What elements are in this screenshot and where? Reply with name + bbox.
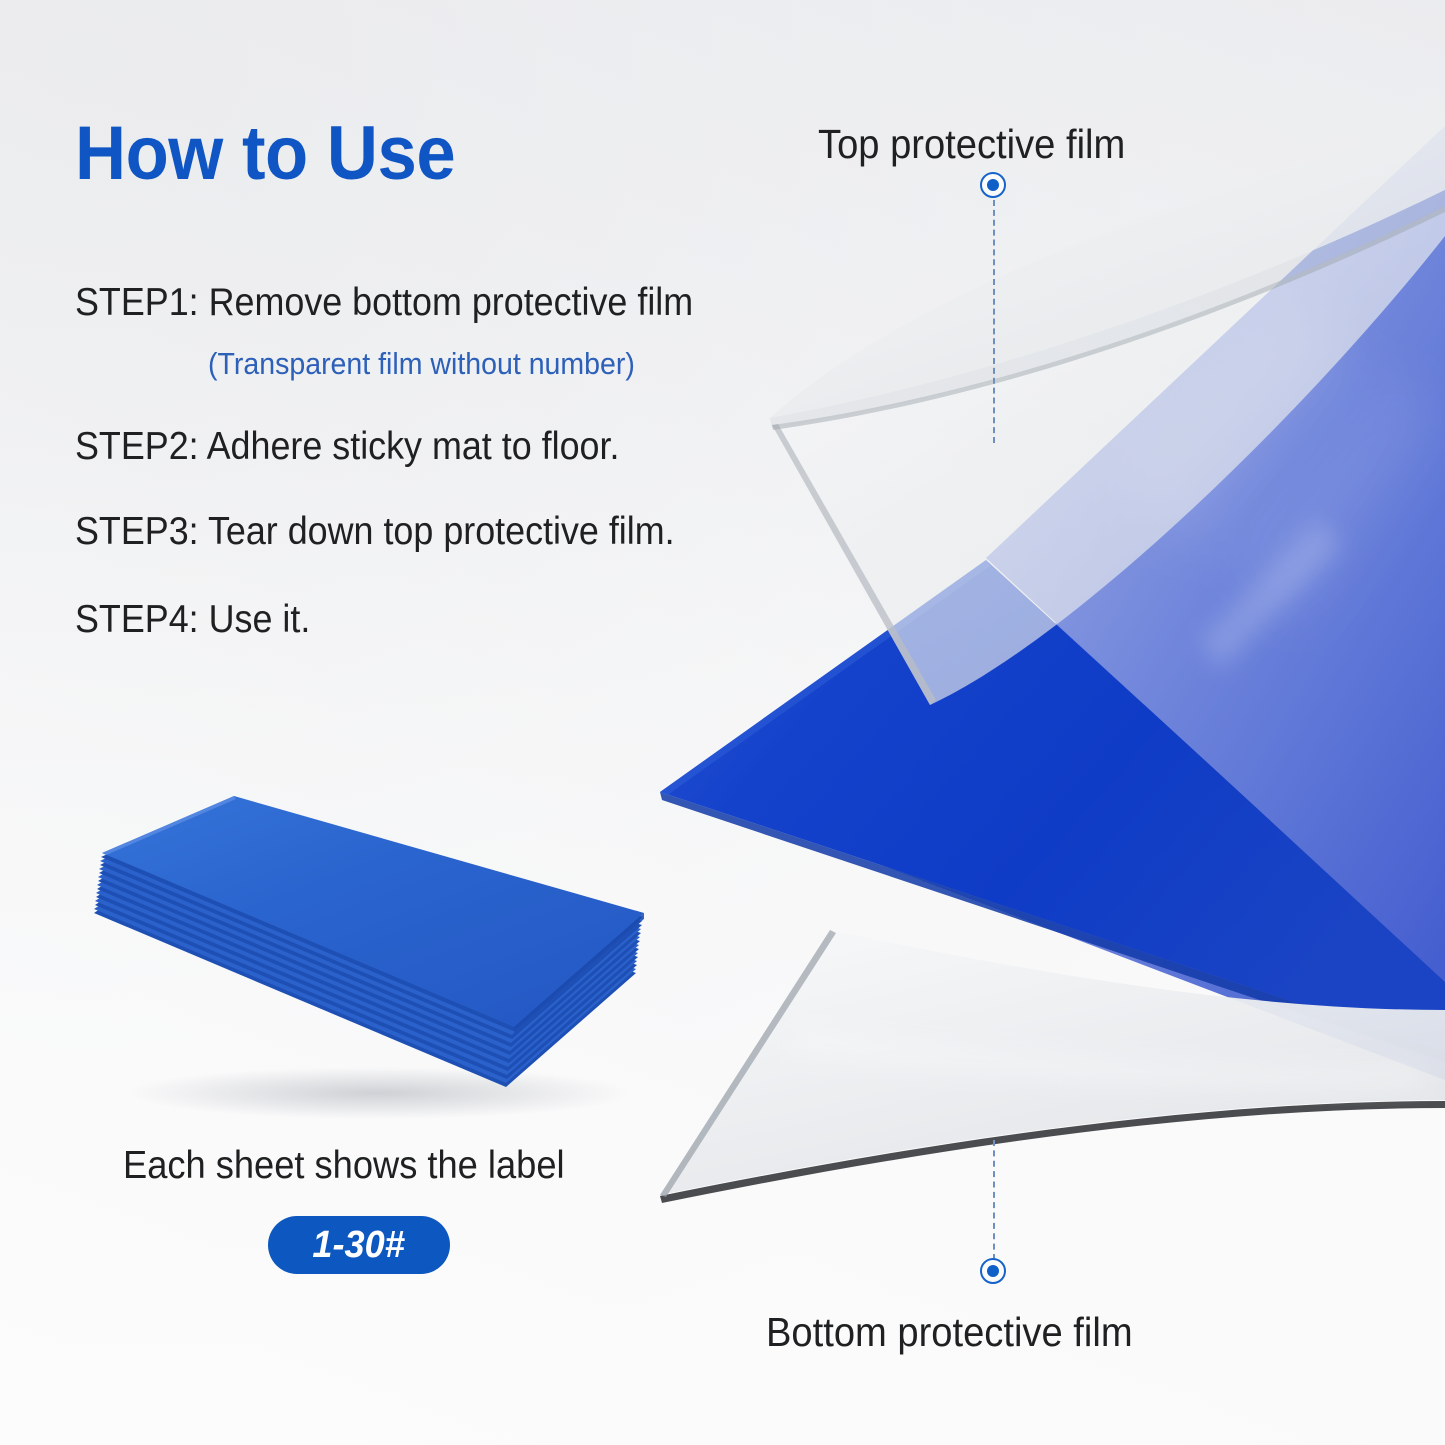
marker-dot-icon — [987, 1265, 999, 1277]
callout-marker-top-film — [980, 172, 1006, 198]
callout-connector-top-film — [993, 200, 995, 443]
callout-connector-bottom-film — [993, 1140, 995, 1260]
step-3-text: STEP3: Tear down top protective film. — [75, 512, 675, 551]
step-1-text: STEP1: Remove bottom protective film — [75, 283, 693, 322]
badge-text: 1-30# — [313, 1224, 405, 1267]
step-1-note: (Transparent film without number) — [208, 348, 635, 379]
step-4-text: STEP4: Use it. — [75, 600, 310, 639]
marker-dot-icon — [987, 179, 999, 191]
callout-label-top-film: Top protective film — [818, 124, 1125, 165]
callout-label-bottom-film: Bottom protective film — [766, 1312, 1133, 1353]
callout-marker-bottom-film — [980, 1258, 1006, 1284]
page-title: How to Use — [75, 116, 455, 192]
infographic-canvas: How to Use STEP1: Remove bottom protecti… — [0, 0, 1445, 1445]
product-photo — [600, 0, 1445, 1445]
step-2-text: STEP2: Adhere sticky mat to floor. — [75, 427, 619, 466]
label-range-badge: 1-30# — [268, 1216, 450, 1274]
sheet-stack-illustration — [78, 795, 678, 1125]
stack-caption: Each sheet shows the label — [123, 1146, 565, 1185]
